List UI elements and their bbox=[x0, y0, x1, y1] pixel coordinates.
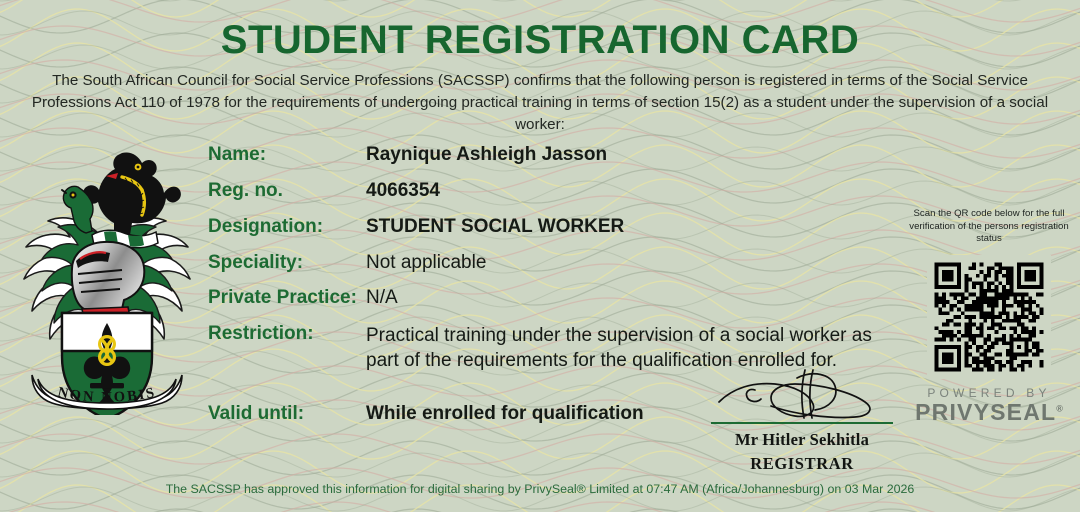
detail-label: Reg. no. bbox=[208, 180, 283, 202]
coat-of-arms-emblem: NON NOBIS bbox=[18, 143, 196, 415]
detail-label: Restriction: bbox=[208, 323, 314, 345]
detail-value: N/A bbox=[366, 287, 398, 309]
registered-mark-icon: ® bbox=[1056, 403, 1063, 413]
qr-caption: Scan the QR code below for the full veri… bbox=[906, 208, 1072, 246]
detail-label: Valid until: bbox=[208, 403, 304, 425]
signature-rule bbox=[711, 422, 893, 424]
detail-value: Practical training under the supervision… bbox=[366, 323, 906, 373]
registrar-role: REGISTRAR bbox=[688, 454, 916, 474]
intro-paragraph: The South African Council for Social Ser… bbox=[28, 70, 1052, 136]
privyseal-wordmark: PRIVYSEAL bbox=[915, 399, 1056, 425]
detail-row: Restriction:Practical training under the… bbox=[208, 323, 908, 349]
detail-label: Private Practice: bbox=[208, 287, 357, 309]
detail-row: Name:Raynique Ashleigh Jasson bbox=[208, 144, 908, 170]
detail-value: Raynique Ashleigh Jasson bbox=[366, 144, 607, 166]
signature-block: Mr Hitler Sekhitla REGISTRAR bbox=[688, 368, 916, 474]
detail-row: Reg. no.4066354 bbox=[208, 180, 908, 206]
detail-label: Designation: bbox=[208, 216, 323, 238]
detail-value: Not applicable bbox=[366, 252, 486, 274]
detail-label: Speciality: bbox=[208, 252, 303, 274]
registrar-name: Mr Hitler Sekhitla bbox=[688, 430, 916, 450]
detail-label: Name: bbox=[208, 144, 266, 166]
student-registration-card: STUDENT REGISTRATION CARD The South Afri… bbox=[0, 0, 1080, 512]
page-title: STUDENT REGISTRATION CARD bbox=[0, 18, 1080, 63]
detail-value: While enrolled for qualification bbox=[366, 403, 644, 425]
privyseal-brand: PRIVYSEAL® bbox=[906, 399, 1072, 426]
detail-row: Designation:STUDENT SOCIAL WORKER bbox=[208, 216, 908, 242]
detail-value: STUDENT SOCIAL WORKER bbox=[366, 216, 624, 238]
qr-verification-panel: Scan the QR code below for the full veri… bbox=[906, 208, 1072, 426]
qr-code[interactable] bbox=[927, 255, 1051, 379]
powered-by-label: POWERED BY bbox=[906, 386, 1072, 400]
detail-row: Private Practice:N/A bbox=[208, 287, 908, 313]
approval-footer: The SACSSP has approved this information… bbox=[0, 482, 1080, 496]
signature-mark bbox=[709, 368, 895, 422]
detail-value: 4066354 bbox=[366, 180, 440, 202]
detail-row: Speciality:Not applicable bbox=[208, 252, 908, 278]
